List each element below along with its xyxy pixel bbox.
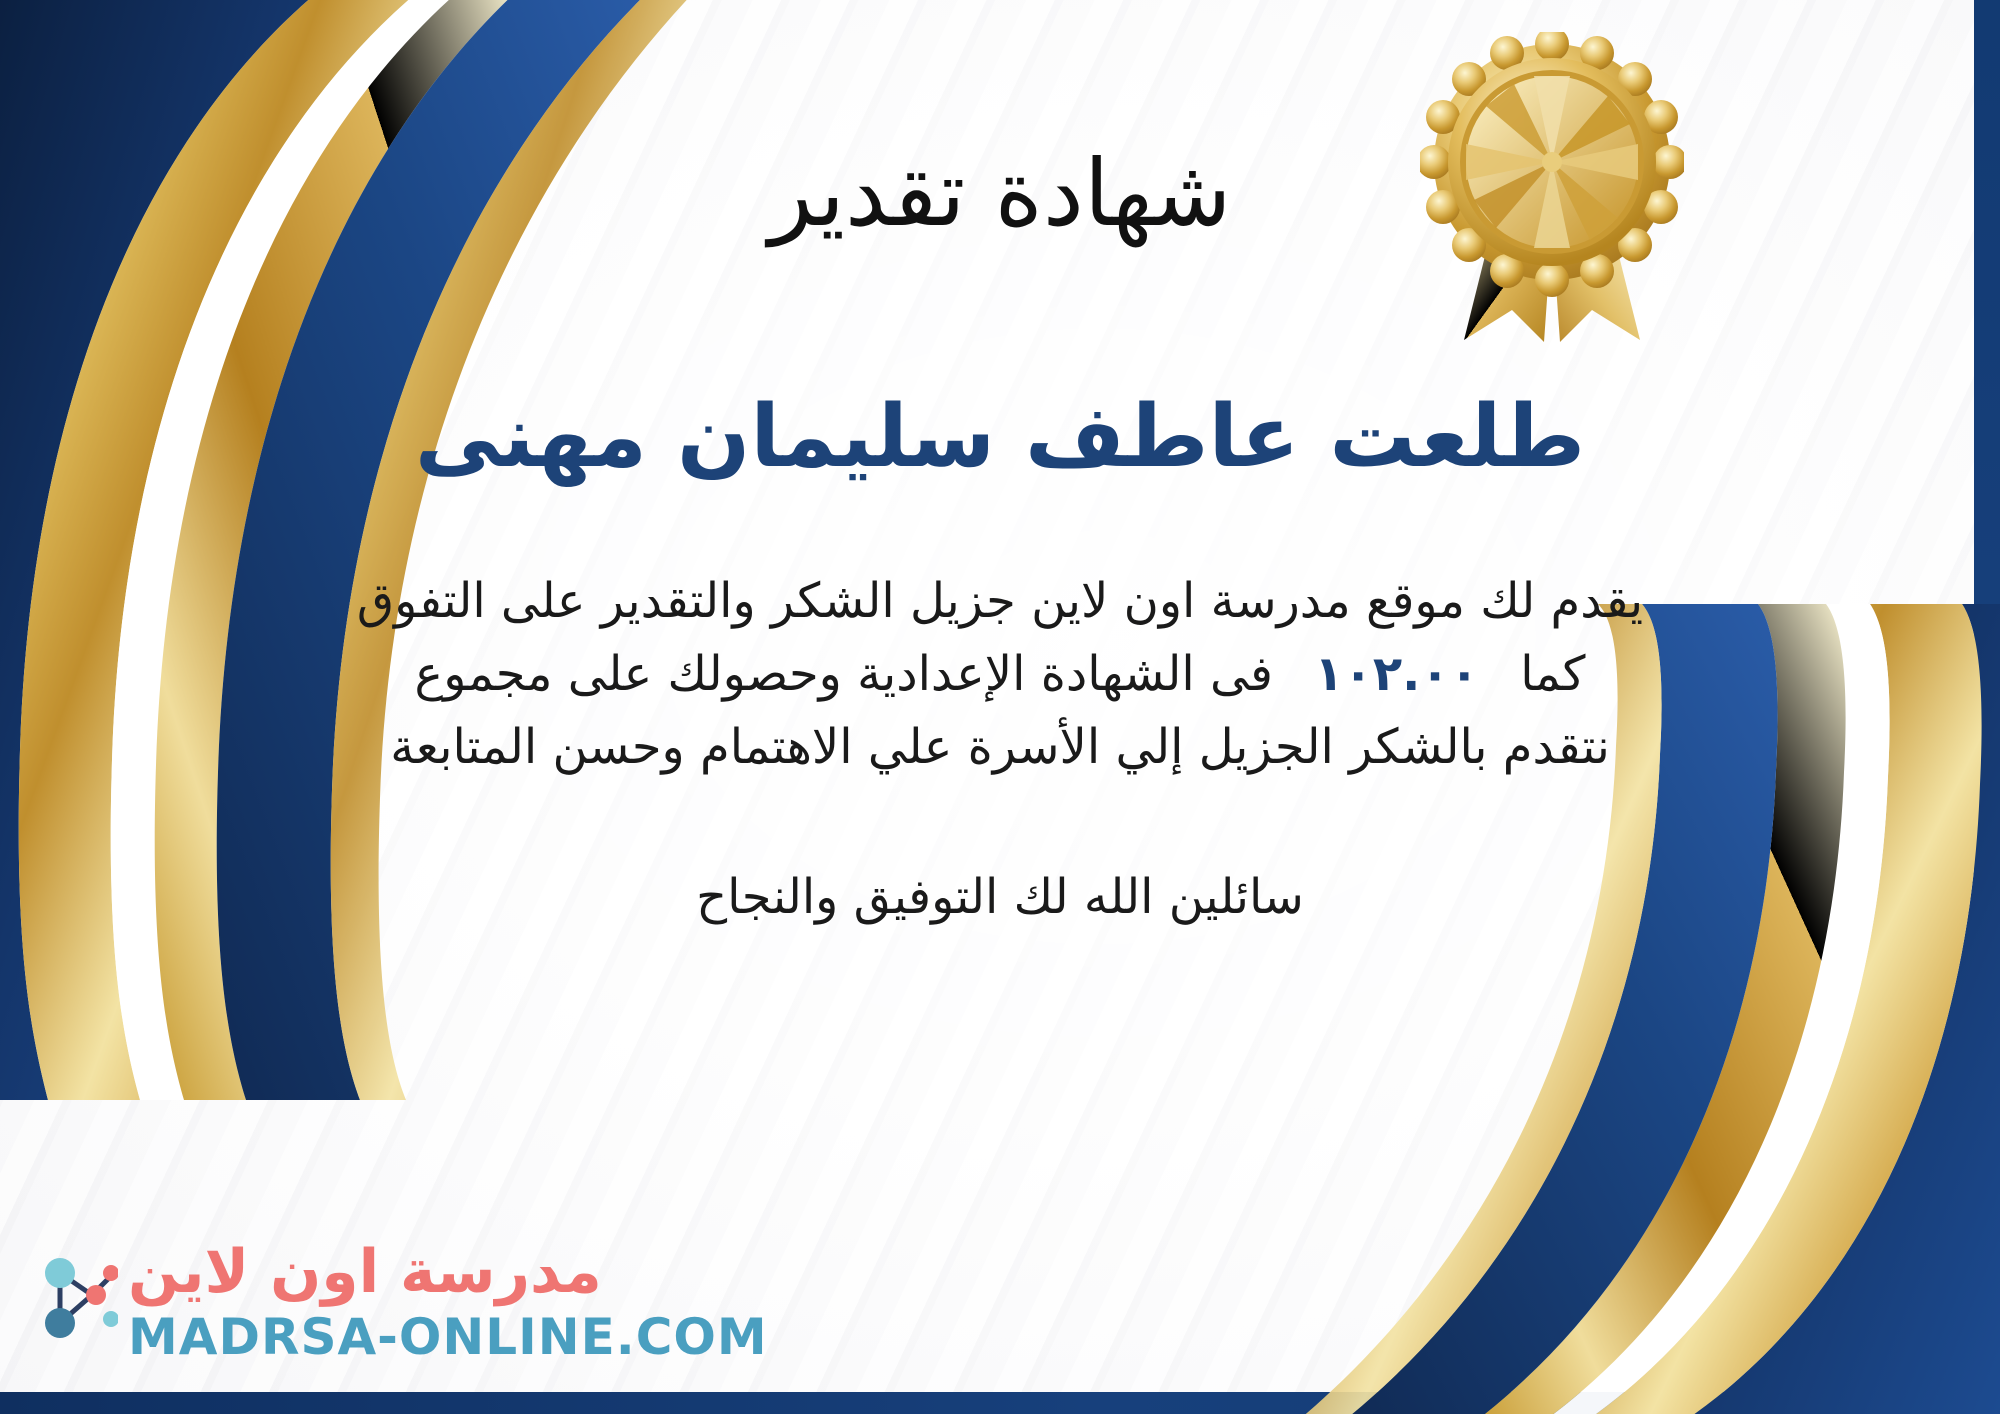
certificate-body: يقدم لك موقع مدرسة اون لاين جزيل الشكر و… [80, 565, 1920, 784]
body-line-2: كما ١٠٢.٠٠ فى الشهادة الإعدادية وحصولك ع… [80, 638, 1920, 711]
score-value: ١٠٢.٠٠ [1288, 646, 1505, 702]
body-line-2-prefix: فى الشهادة الإعدادية وحصولك على مجموع [415, 646, 1273, 702]
brand-website: MADRSA-ONLINE.COM [128, 1312, 768, 1362]
body-line-3: نتقدم بالشكر الجزيل إلي الأسرة علي الاهت… [80, 711, 1920, 784]
body-line-2-suffix: كما [1520, 646, 1585, 702]
brand-logo-text: مدرسة اون لاين MADRSA-ONLINE.COM [128, 1242, 768, 1362]
certificate-content: شهادة تقدير طلعت عاطف سليمان مهنى يقدم ل… [0, 0, 2000, 1414]
closing-line: سائلين الله لك التوفيق والنجاح [696, 869, 1304, 925]
brand-name-arabic: مدرسة اون لاين [128, 1242, 602, 1302]
body-line-1: يقدم لك موقع مدرسة اون لاين جزيل الشكر و… [80, 565, 1920, 638]
page-title: شهادة تقدير [769, 148, 1232, 240]
certificate-page: شهادة تقدير طلعت عاطف سليمان مهنى يقدم ل… [0, 0, 2000, 1414]
recipient-name: طلعت عاطف سليمان مهنى [415, 390, 1585, 485]
brand-logo[interactable]: مدرسة اون لاين MADRSA-ONLINE.COM [30, 1242, 768, 1362]
network-nodes-icon [30, 1247, 118, 1357]
